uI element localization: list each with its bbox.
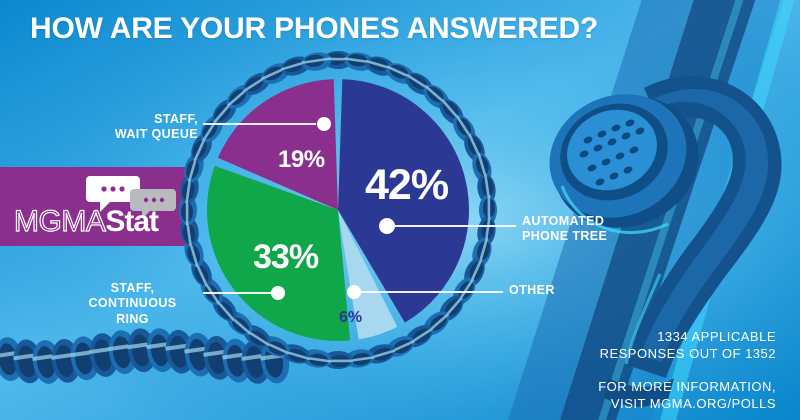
footer-responses: 1334 APPLICABLE RESPONSES OUT OF 1352 xyxy=(600,328,776,362)
pie-chart xyxy=(178,58,498,364)
callout-label-automated: AUTOMATED PHONE TREE xyxy=(522,214,662,245)
page-title: HOW ARE YOUR PHONES ANSWERED? xyxy=(30,12,598,46)
mgma-stat-banner: MGMAStat xyxy=(0,167,186,246)
pie-chart-svg xyxy=(178,58,498,364)
callout-label-wait-queue: STAFF, WAIT QUEUE xyxy=(88,112,198,143)
infographic-canvas: HOW ARE YOUR PHONES ANSWERED? MGMAStat 4… xyxy=(0,0,800,420)
callout-label-other: OTHER xyxy=(509,283,599,298)
brand-logo-bold: Stat xyxy=(105,205,158,238)
callout-label-continuous-ring: STAFF, CONTINUOUS RING xyxy=(66,281,199,327)
footer-more-info: FOR MORE INFORMATION, VISIT MGMA.ORG/POL… xyxy=(598,378,776,412)
brand-logo: MGMAStat xyxy=(14,207,158,237)
brand-logo-light: MGMA xyxy=(14,205,105,238)
